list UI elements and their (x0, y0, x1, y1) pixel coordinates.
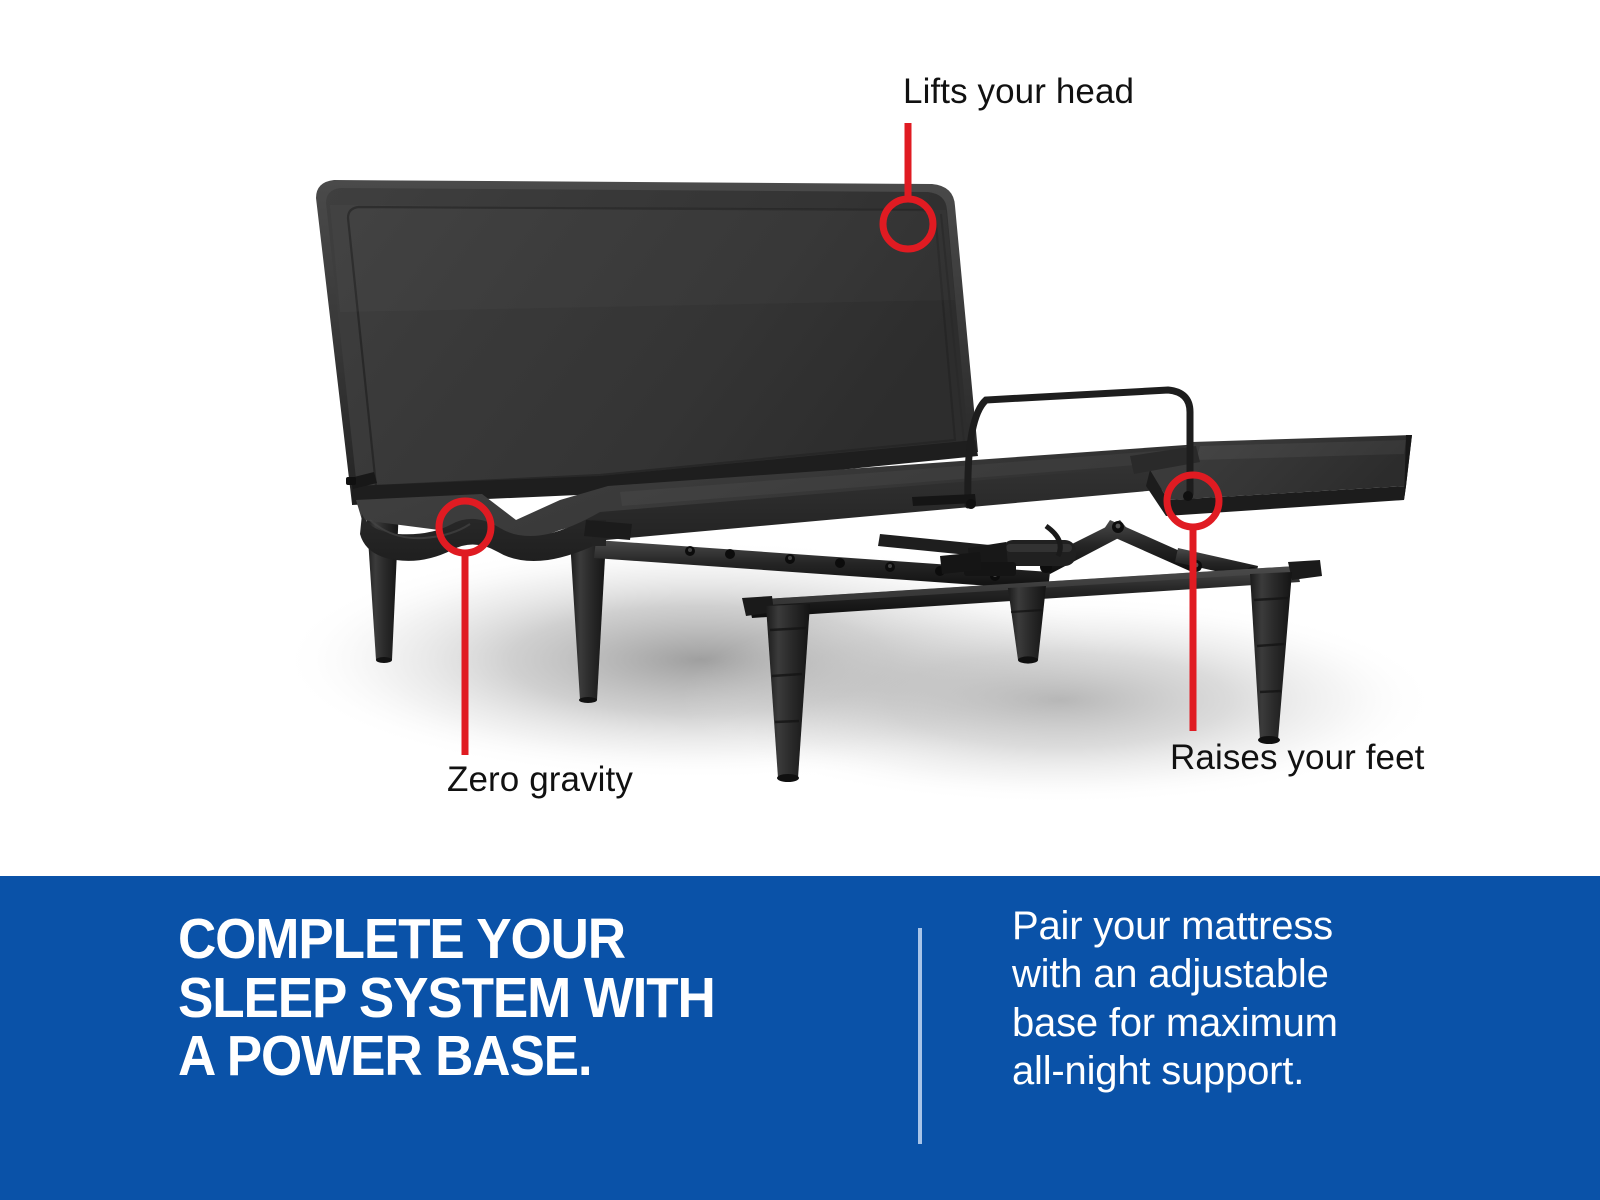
promo-subcopy-line-3: base for maximum (1012, 999, 1432, 1047)
promo-subcopy-line-4: all-night support. (1012, 1047, 1432, 1095)
callout-label-zero-gravity: Zero gravity (447, 762, 633, 797)
promo-headline: COMPLETE YOUR SLEEP SYSTEM WITH A POWER … (178, 910, 829, 1086)
promo-subcopy-line-2: with an adjustable (1012, 950, 1432, 998)
callout-label-raises-feet: Raises your feet (1170, 740, 1425, 775)
promo-headline-line-3: A POWER BASE. (178, 1027, 829, 1086)
promo-banner: COMPLETE YOUR SLEEP SYSTEM WITH A POWER … (0, 876, 1600, 1200)
head-section-panel (316, 180, 978, 505)
promo-subcopy: Pair your mattress with an adjustable ba… (1012, 902, 1432, 1096)
callout-label-lifts-head: Lifts your head (903, 74, 1134, 109)
promo-headline-line-2: SLEEP SYSTEM WITH (178, 969, 829, 1028)
promo-vertical-divider (918, 928, 922, 1144)
promo-banner-inner: COMPLETE YOUR SLEEP SYSTEM WITH A POWER … (0, 876, 1600, 1200)
promo-subcopy-line-1: Pair your mattress (1012, 902, 1432, 950)
marketing-graphic-page: Lifts your head Zero gravity Raises your… (0, 0, 1600, 1200)
promo-headline-line-1: COMPLETE YOUR (178, 910, 829, 969)
product-hero-area: Lifts your head Zero gravity Raises your… (0, 0, 1600, 876)
